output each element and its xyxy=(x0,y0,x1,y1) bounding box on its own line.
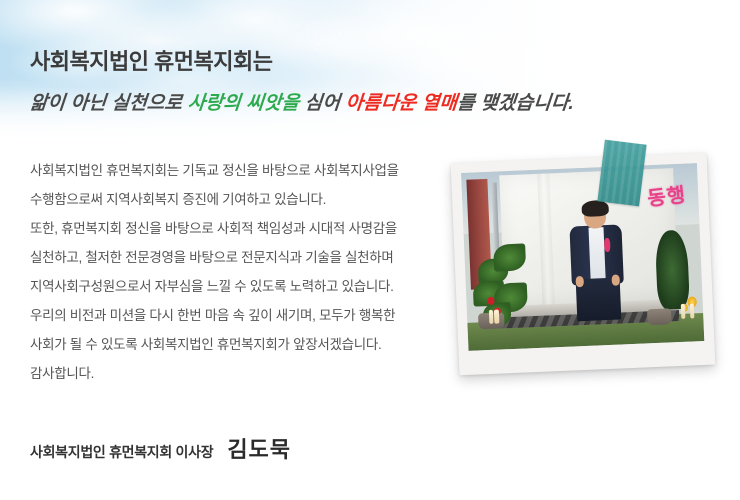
conifer-tree xyxy=(654,229,690,310)
page-root: 사회복지법인 휴먼복지회는 앎이 아닌 실천으로 사랑의 씨앗을 심어 아름다운… xyxy=(0,0,740,500)
slogan-part-1: 앎이 아닌 실천으로 xyxy=(29,93,189,114)
slogan-part-3: 심어 xyxy=(298,93,346,114)
page-title: 사회복지법인 휴먼복지회는 xyxy=(30,44,273,76)
signature-name: 김도묵 xyxy=(227,432,291,464)
candle xyxy=(494,309,499,323)
message-line: 우리의 비전과 미션을 다시 한번 마음 속 깊이 새기며, 모두가 행복한 xyxy=(30,301,450,330)
message-line: 사회복지법인 휴먼복지회는 기독교 정신을 바탕으로 사회복지사업을 xyxy=(30,156,450,185)
leaf-shape xyxy=(493,243,526,272)
plant-left xyxy=(471,241,536,329)
candle xyxy=(489,310,494,324)
plant-right xyxy=(641,231,701,326)
banner-calligraphy-text: 동행 xyxy=(646,178,688,211)
signature-title: 사회복지법인 휴먼복지회 이사장 xyxy=(30,442,213,462)
greeting-message: 사회복지법인 휴먼복지회는 기독교 정신을 바탕으로 사회복지사업을 수행함으로… xyxy=(30,156,450,388)
message-line: 수행함으로써 지역사회복지 증진에 기여하고 있습니다. xyxy=(30,185,450,214)
slogan: 앎이 아닌 실천으로 사랑의 씨앗을 심어 아름다운 열매를 맺겠습니다. xyxy=(29,88,576,115)
person-hand-left xyxy=(576,276,584,287)
washi-tape xyxy=(597,140,646,207)
slogan-part-5: 를 맺겠습니다. xyxy=(456,93,575,114)
photo-image: 동행 xyxy=(461,163,704,351)
person-hair xyxy=(581,200,609,216)
message-line: 감사합니다. xyxy=(30,359,450,388)
polaroid-frame: 동행 xyxy=(451,153,716,376)
candle xyxy=(681,304,686,319)
person-shirt xyxy=(588,227,605,279)
slogan-part-green: 사랑의 씨앗을 xyxy=(187,93,300,114)
slogan-part-red: 아름다운 열매 xyxy=(345,93,458,114)
candle xyxy=(690,303,695,318)
chairman-photo: 동행 xyxy=(455,148,723,388)
flower-pot xyxy=(647,308,671,326)
red-flower xyxy=(487,297,495,305)
signature: 사회복지법인 휴먼복지회 이사장 김도묵 xyxy=(30,432,291,464)
message-line: 또한, 휴먼복지회 정신을 바탕으로 사회적 책임성과 시대적 사명감을 xyxy=(30,214,450,243)
person-corsage xyxy=(603,238,610,252)
message-line: 지역사회구성원으로서 자부심을 느낄 수 있도록 노력하고 있습니다. xyxy=(30,272,450,301)
message-line: 사회가 될 수 있도록 사회복지법인 휴먼복지회가 앞장서겠습니다. xyxy=(30,330,450,359)
seated-person xyxy=(564,202,630,322)
photo-scene: 동행 xyxy=(461,163,704,351)
message-line: 실천하고, 철저한 전문경영을 바탕으로 전문지식과 기술을 실천하며 xyxy=(30,243,450,272)
